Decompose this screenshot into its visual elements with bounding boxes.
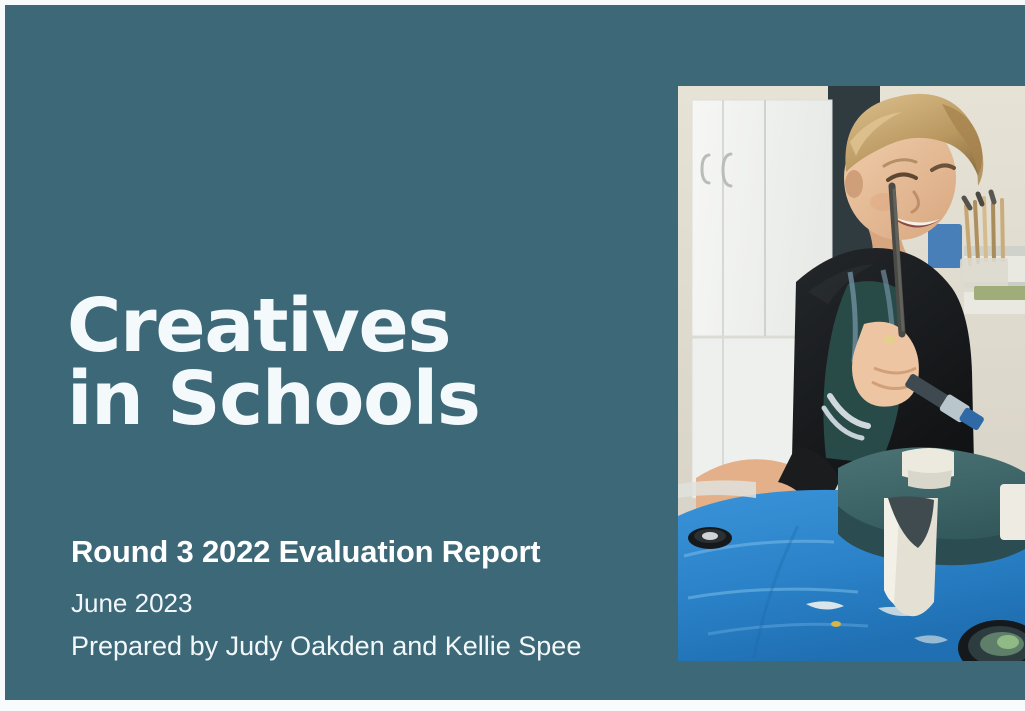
report-subtitle: Round 3 2022 Evaluation Report xyxy=(71,534,540,570)
report-date: June 2023 xyxy=(71,588,192,619)
slide-frame: Creatives in Schools Round 3 2022 Evalua… xyxy=(0,0,1025,711)
title-slide: Creatives in Schools Round 3 2022 Evalua… xyxy=(5,5,1025,700)
report-authors: Prepared by Judy Oakden and Kellie Spee xyxy=(71,631,581,662)
cover-photo xyxy=(678,86,1025,661)
page-title: Creatives in Schools xyxy=(67,290,667,435)
cover-photo-illustration xyxy=(678,86,1025,661)
title-block: Creatives in Schools xyxy=(67,290,667,435)
